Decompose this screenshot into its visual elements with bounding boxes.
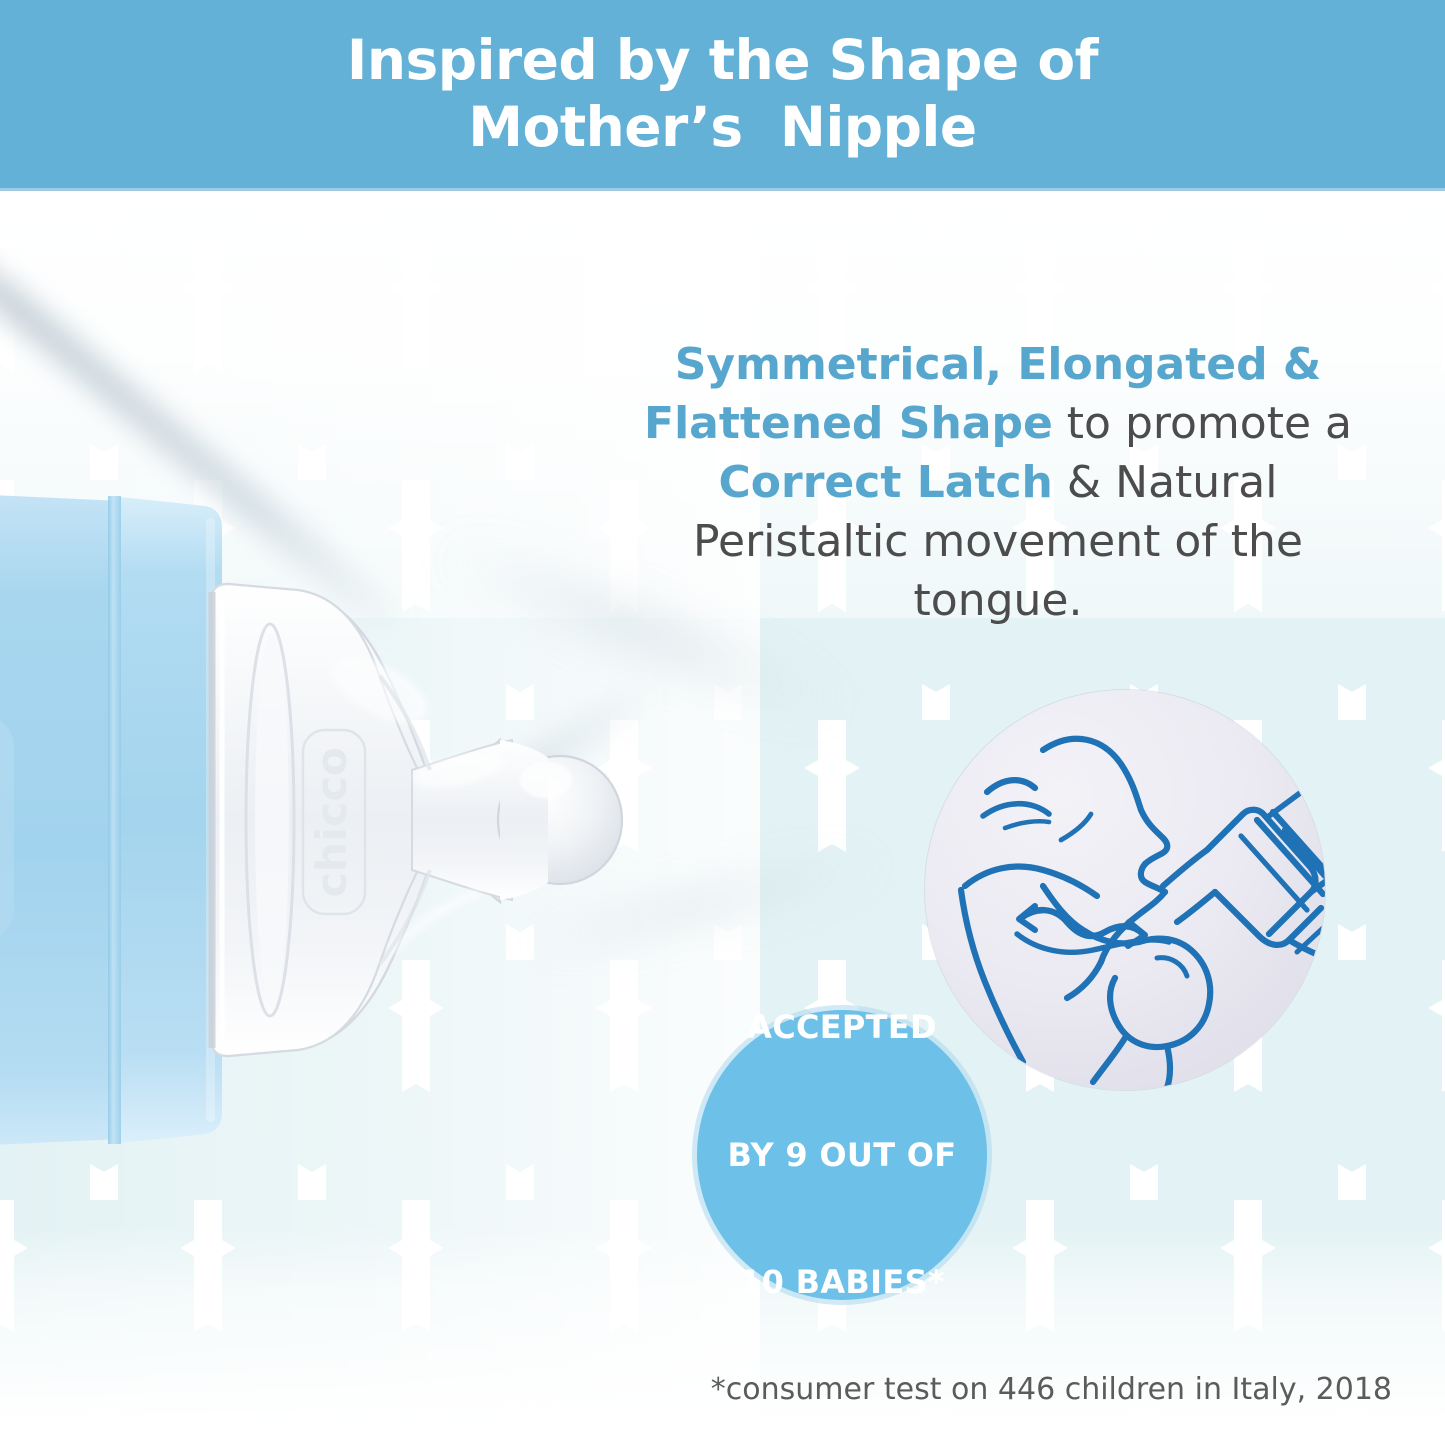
chicco-nipple-emboss: chicco [303,730,365,914]
header-title-line-1: Inspired by the Shape of [347,27,1098,94]
badge-line-1: ACCEPTED [728,1006,957,1049]
silicone-nipple: chicco [212,584,622,1056]
badge-line-3: 10 BABIES* [728,1261,957,1304]
copy-highlight-latch: Correct Latch [719,457,1053,508]
accepted-by-babies-badge: ACCEPTED BY 9 OUT OF 10 BABIES* [697,1010,987,1300]
bottle-collar-ring [108,496,226,1144]
chicco-brand-emboss: chicco chicco [0,712,14,943]
bottom-white-wash [0,1225,1445,1445]
header-title-line-2: Mother’s Nipple [468,94,976,161]
feature-description: Symmetrical, Elongated & Flattened Shape… [640,336,1356,631]
copy-plain-promote: to promote a [1053,398,1352,449]
footnote-disclaimer: *consumer test on 446 children in Italy,… [0,1372,1392,1407]
baby-feeding-line-art [925,690,1325,1090]
infographic-page: chicco chicco [0,0,1445,1445]
baby-feeding-illustration-circle [925,690,1325,1090]
badge-line-2: BY 9 OUT OF [728,1134,957,1177]
badge-text-block: ACCEPTED BY 9 OUT OF 10 BABIES* [728,921,957,1389]
header-banner: Inspired by the Shape of Mother’s Nipple [0,0,1445,191]
svg-text:chicco: chicco [307,747,356,898]
svg-text:chicco: chicco [0,712,2,943]
product-bottle-and-nipple-photo: chicco chicco [0,440,720,1200]
